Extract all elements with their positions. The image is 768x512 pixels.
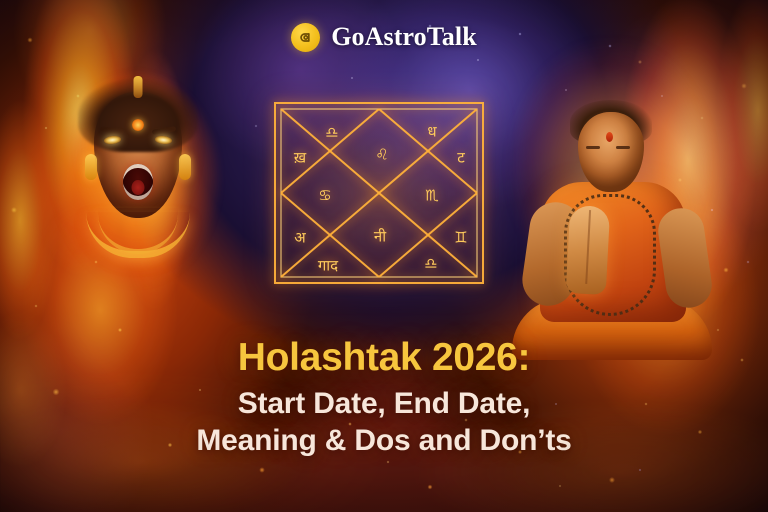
banner-canvas: ♎ ♌ ध ख़ ट ♋ ♏ अ ♊ नी गाद ♎ GoAstroTalk H… — [0, 0, 768, 512]
kundali-glyph-5: ♋ — [318, 187, 331, 205]
headline-subtitle-line-2: Meaning & Dos and Don’ts — [0, 422, 768, 459]
kundali-glyph-8: ♊ — [454, 229, 467, 247]
kundali-glyph-7: अ — [294, 229, 306, 247]
brand-logo[interactable]: GoAstroTalk — [0, 22, 768, 52]
kundali-glyph-9: नी — [374, 228, 387, 246]
headline-title: Holashtak 2026: — [0, 338, 768, 378]
kundali-glyph-4: ट — [457, 149, 465, 167]
at-sign-circle-icon — [291, 23, 320, 52]
kundali-glyph-10: गाद — [318, 257, 339, 275]
brand-name: GoAstroTalk — [331, 22, 477, 52]
kundali-glyph-0: ♎ — [325, 124, 338, 142]
kundali-glyph-3: ख़ — [294, 149, 307, 167]
north-indian-kundali-chart: ♎ ♌ ध ख़ ट ♋ ♏ अ ♊ नी गाद ♎ — [272, 100, 486, 286]
headline-subtitle: Start Date, End Date, Meaning & Dos and … — [0, 385, 768, 459]
kundali-svg: ♎ ♌ ध ख़ ट ♋ ♏ अ ♊ नी गाद ♎ — [272, 100, 486, 286]
kundali-glyph-2: ध — [427, 123, 437, 141]
kundali-glyph-11: ♎ — [424, 255, 437, 273]
headline-block: Holashtak 2026: Start Date, End Date, Me… — [0, 338, 768, 459]
kundali-glyph-1: ♌ — [375, 146, 388, 164]
headline-subtitle-line-1: Start Date, End Date, — [0, 385, 768, 422]
kundali-glyph-6: ♏ — [425, 187, 439, 205]
